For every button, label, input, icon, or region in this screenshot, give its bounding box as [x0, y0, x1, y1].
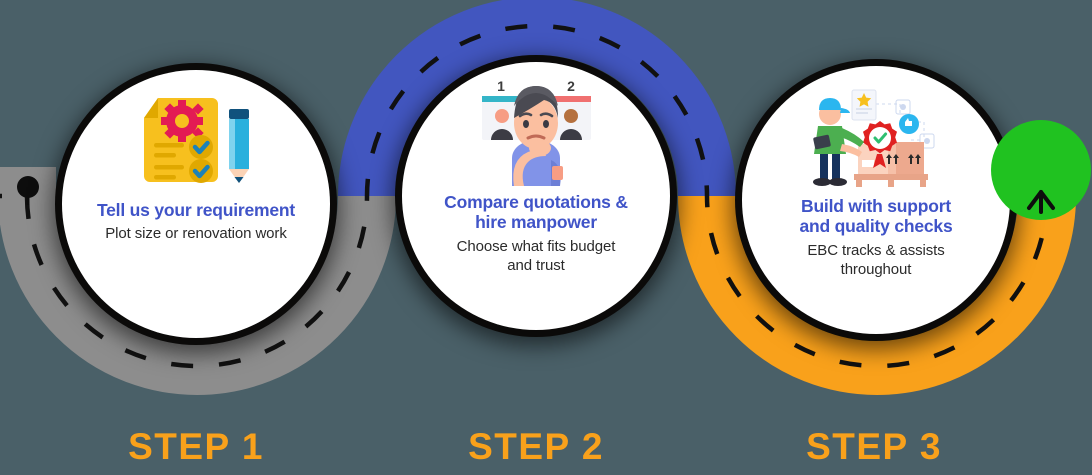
step-card-3[interactable]: Build with support and quality checks EB…: [742, 66, 1010, 334]
svg-text:1: 1: [497, 78, 505, 94]
step-3-desc-line1: EBC tracks & assists: [807, 242, 944, 259]
step-3-title-line2: and quality checks: [800, 216, 953, 236]
roadmap-end-badge[interactable]: [991, 120, 1091, 220]
step-card-1[interactable]: Tell us your requirement Plot size or re…: [62, 70, 330, 338]
step-2-desc-line1: Choose what fits budget: [457, 238, 616, 255]
step-1-label: STEP 1: [46, 426, 346, 468]
map-pin-icon: [16, 174, 40, 206]
step-3-title-line1: Build with support: [801, 196, 951, 216]
step-2-description: Choose what fits budget and trust: [457, 237, 616, 276]
worker-quality-check-icon: [796, 82, 956, 190]
step-3-description: EBC tracks & assists throughout: [807, 241, 944, 280]
step-2-desc-line2: and trust: [507, 257, 564, 274]
step-2-label: STEP 2: [386, 426, 686, 468]
step-3-desc-line2: throughout: [841, 261, 912, 278]
step-2-title-line2: hire manpower: [475, 212, 597, 232]
step-3-label: STEP 3: [724, 426, 1024, 468]
step-2-title-line1: Compare quotations &: [444, 192, 628, 212]
person-comparing-candidates-icon: 1 2: [456, 78, 616, 186]
step-card-2[interactable]: 1 2: [402, 62, 670, 330]
step-1-description: Plot size or renovation work: [105, 224, 286, 244]
step-2-title: Compare quotations & hire manpower: [444, 192, 628, 233]
process-roadmap-graphic: Tell us your requirement Plot size or re…: [0, 0, 1092, 475]
arrow-up-icon: [1024, 184, 1058, 214]
step-1-title: Tell us your requirement: [97, 200, 295, 220]
step-3-title: Build with support and quality checks: [800, 196, 953, 237]
svg-text:2: 2: [567, 78, 575, 94]
clipboard-gear-pencil-icon: [116, 86, 276, 194]
